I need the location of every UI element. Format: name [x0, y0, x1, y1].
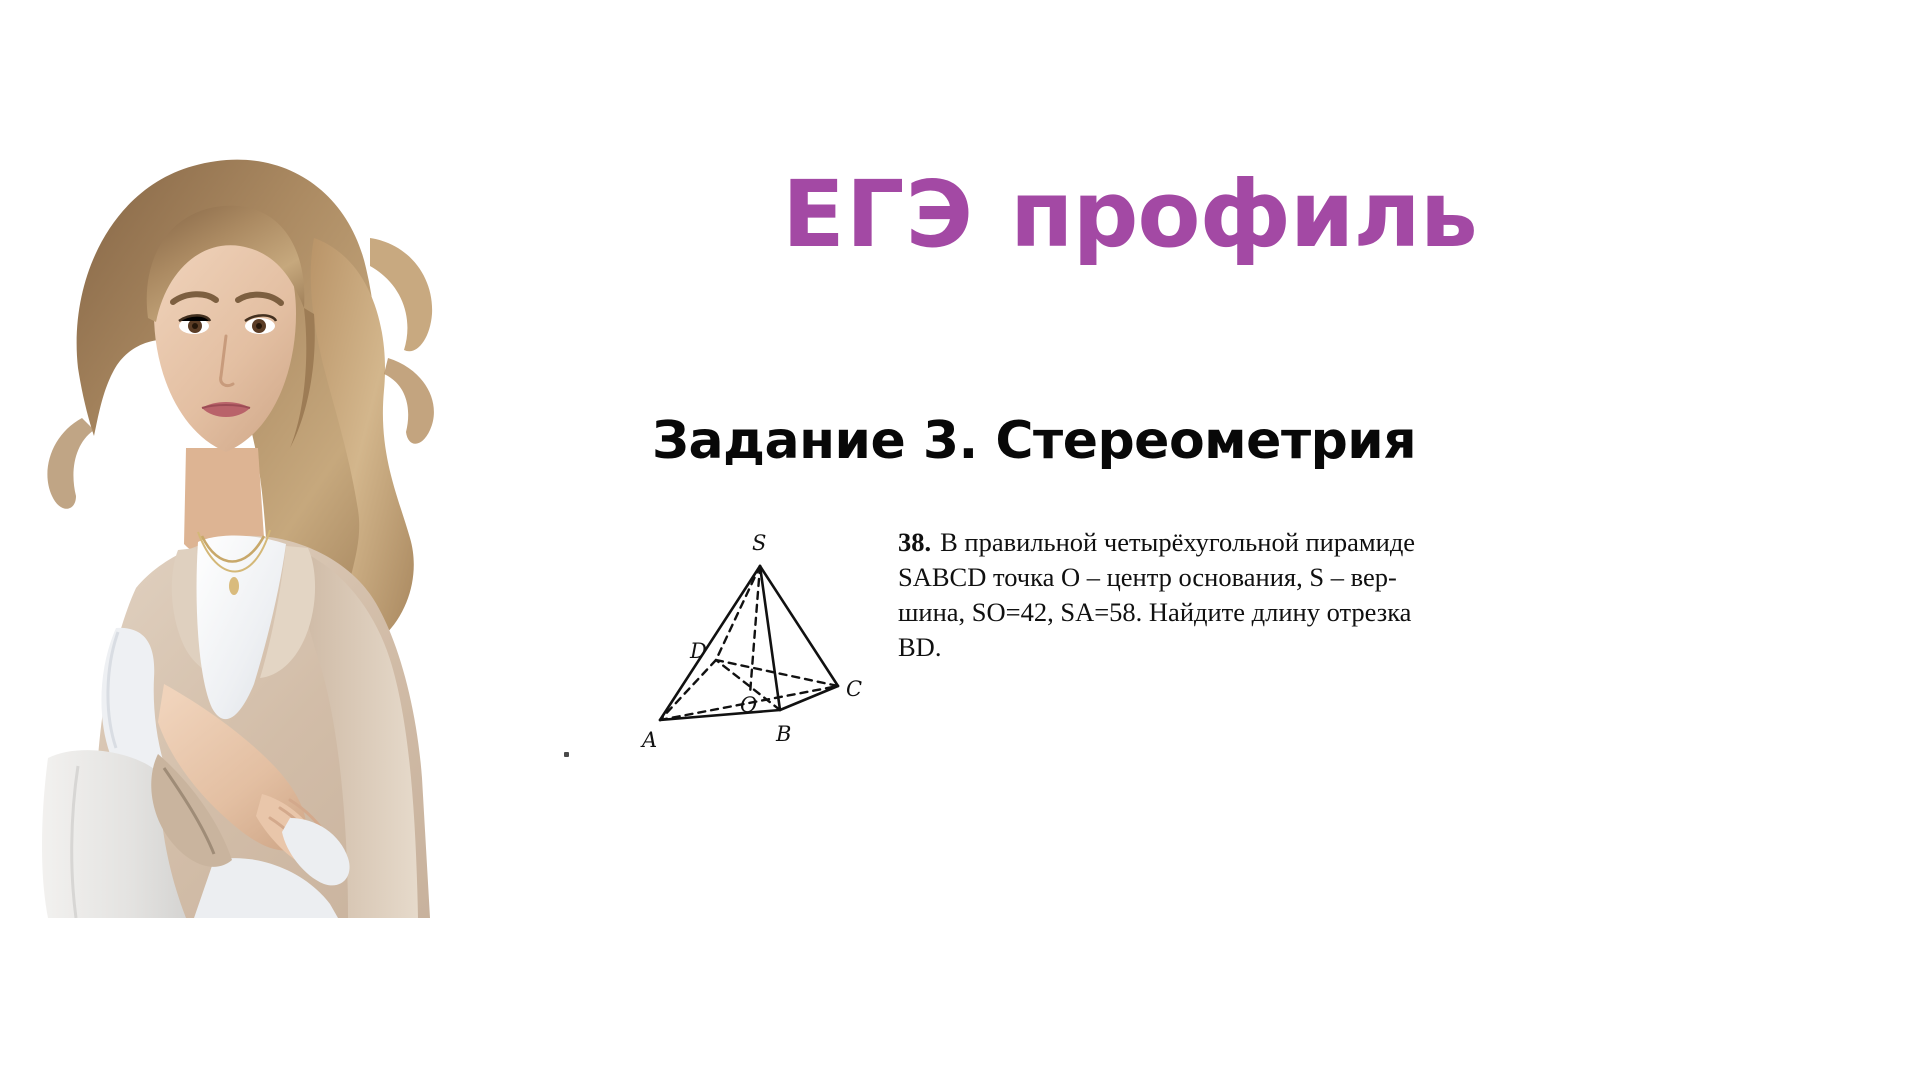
- label-O: O: [740, 693, 757, 717]
- label-D: D: [689, 639, 707, 663]
- problem-number: 38.: [898, 527, 931, 557]
- presenter-photo-image: [18, 118, 478, 918]
- problem-text: 38.В правильной четырёхугольной пирамиде…: [898, 525, 1428, 665]
- pyramid-figure: S A B C D O: [640, 518, 910, 798]
- presenter-photo: [18, 118, 478, 918]
- label-A: A: [640, 728, 657, 752]
- problem-line-1: 38.В правильной четырёхугольной пирамиде: [898, 525, 1428, 560]
- problem-line-4: BD.: [898, 630, 1428, 665]
- pyramid-diagram-image: S A B C D O: [640, 518, 910, 798]
- scan-speck: [564, 752, 569, 757]
- problem-line-3: шина, SO=42, SA=58. Найдите длину отрезк…: [898, 595, 1428, 630]
- brand-title-sub: профиль: [1010, 161, 1477, 268]
- brand-title: ЕГЭпрофиль: [782, 168, 1477, 262]
- problem-line-2: SABCD точка O – центр основания, S – вер…: [898, 560, 1428, 595]
- page-title: Задание 3. Стереометрия: [652, 414, 1416, 469]
- label-C: C: [846, 677, 862, 701]
- slide-root: ЕГЭпрофиль Задание 3. Стереометрия: [0, 0, 1920, 1078]
- label-B: B: [775, 722, 791, 746]
- problem-line-1-text: В правильной четырёхугольной пирамиде: [940, 527, 1415, 557]
- brand-title-main: ЕГЭ: [782, 161, 974, 268]
- label-S: S: [752, 531, 766, 555]
